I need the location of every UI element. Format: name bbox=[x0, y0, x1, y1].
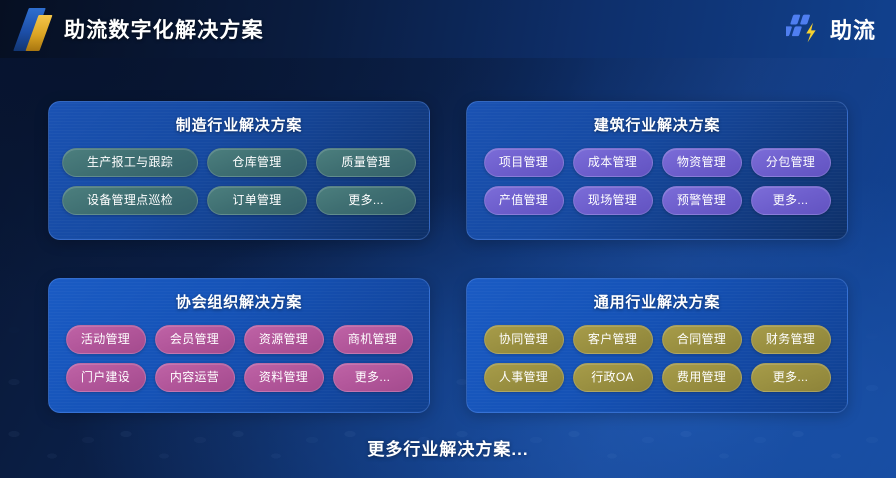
pill-row: 活动管理会员管理资源管理商机管理 bbox=[63, 325, 415, 354]
solution-pill[interactable]: 更多... bbox=[751, 186, 831, 215]
solution-card-manufacturing: 制造行业解决方案生产报工与跟踪仓库管理质量管理设备管理点巡检订单管理更多... bbox=[48, 101, 430, 240]
solution-pill[interactable]: 仓库管理 bbox=[207, 148, 307, 177]
solution-pill[interactable]: 订单管理 bbox=[207, 186, 307, 215]
solution-cards-grid: 制造行业解决方案生产报工与跟踪仓库管理质量管理设备管理点巡检订单管理更多...建… bbox=[48, 101, 848, 413]
solution-pill[interactable]: 分包管理 bbox=[751, 148, 831, 177]
pill-row: 设备管理点巡检订单管理更多... bbox=[63, 186, 415, 215]
pill-row: 生产报工与跟踪仓库管理质量管理 bbox=[63, 148, 415, 177]
solution-pill[interactable]: 费用管理 bbox=[662, 363, 742, 392]
pill-row: 项目管理成本管理物资管理分包管理 bbox=[481, 148, 833, 177]
card-pill-rows: 项目管理成本管理物资管理分包管理产值管理现场管理预警管理更多... bbox=[481, 148, 833, 215]
solution-card-construction: 建筑行业解决方案项目管理成本管理物资管理分包管理产值管理现场管理预警管理更多..… bbox=[466, 101, 848, 240]
solution-pill[interactable]: 协同管理 bbox=[484, 325, 564, 354]
solution-card-general: 通用行业解决方案协同管理客户管理合同管理财务管理人事管理行政OA费用管理更多..… bbox=[466, 278, 848, 413]
solution-pill[interactable]: 生产报工与跟踪 bbox=[62, 148, 198, 177]
pill-row: 产值管理现场管理预警管理更多... bbox=[481, 186, 833, 215]
solution-pill[interactable]: 更多... bbox=[751, 363, 831, 392]
pill-row: 门户建设内容运营资料管理更多... bbox=[63, 363, 415, 392]
solution-pill[interactable]: 财务管理 bbox=[751, 325, 831, 354]
solution-pill[interactable]: 会员管理 bbox=[155, 325, 235, 354]
brand-logo: 助流 bbox=[786, 12, 876, 46]
card-pill-rows: 活动管理会员管理资源管理商机管理门户建设内容运营资料管理更多... bbox=[63, 325, 415, 392]
solution-pill[interactable]: 活动管理 bbox=[66, 325, 146, 354]
solution-pill[interactable]: 更多... bbox=[316, 186, 416, 215]
pill-row: 协同管理客户管理合同管理财务管理 bbox=[481, 325, 833, 354]
solution-pill[interactable]: 商机管理 bbox=[333, 325, 413, 354]
solution-pill[interactable]: 现场管理 bbox=[573, 186, 653, 215]
solution-pill[interactable]: 资源管理 bbox=[244, 325, 324, 354]
solution-pill[interactable]: 预警管理 bbox=[662, 186, 742, 215]
card-title: 制造行业解决方案 bbox=[63, 114, 415, 135]
solution-pill[interactable]: 门户建设 bbox=[66, 363, 146, 392]
solution-pill[interactable]: 合同管理 bbox=[662, 325, 742, 354]
slash-bars-logo-icon bbox=[10, 0, 56, 58]
card-pill-rows: 协同管理客户管理合同管理财务管理人事管理行政OA费用管理更多... bbox=[481, 325, 833, 392]
solution-pill[interactable]: 人事管理 bbox=[484, 363, 564, 392]
solution-pill[interactable]: 产值管理 bbox=[484, 186, 564, 215]
zhuliu-lightning-icon bbox=[786, 12, 822, 46]
solution-card-association: 协会组织解决方案活动管理会员管理资源管理商机管理门户建设内容运营资料管理更多..… bbox=[48, 278, 430, 413]
solution-pill[interactable]: 资料管理 bbox=[244, 363, 324, 392]
page-header: 助流数字化解决方案 助流 bbox=[0, 0, 896, 58]
pill-row: 人事管理行政OA费用管理更多... bbox=[481, 363, 833, 392]
solution-pill[interactable]: 客户管理 bbox=[573, 325, 653, 354]
card-pill-rows: 生产报工与跟踪仓库管理质量管理设备管理点巡检订单管理更多... bbox=[63, 148, 415, 215]
card-title: 协会组织解决方案 bbox=[63, 291, 415, 312]
solution-pill[interactable]: 行政OA bbox=[573, 363, 653, 392]
footer-more-solutions: 更多行业解决方案... bbox=[0, 435, 896, 460]
card-title: 建筑行业解决方案 bbox=[481, 114, 833, 135]
solution-pill[interactable]: 项目管理 bbox=[484, 148, 564, 177]
solution-pill[interactable]: 成本管理 bbox=[573, 148, 653, 177]
card-title: 通用行业解决方案 bbox=[481, 291, 833, 312]
brand-name: 助流 bbox=[830, 13, 876, 45]
page-title: 助流数字化解决方案 bbox=[64, 14, 264, 44]
solution-pill[interactable]: 质量管理 bbox=[316, 148, 416, 177]
solution-pill[interactable]: 设备管理点巡检 bbox=[62, 186, 198, 215]
solution-pill[interactable]: 内容运营 bbox=[155, 363, 235, 392]
solution-pill[interactable]: 物资管理 bbox=[662, 148, 742, 177]
solution-pill[interactable]: 更多... bbox=[333, 363, 413, 392]
